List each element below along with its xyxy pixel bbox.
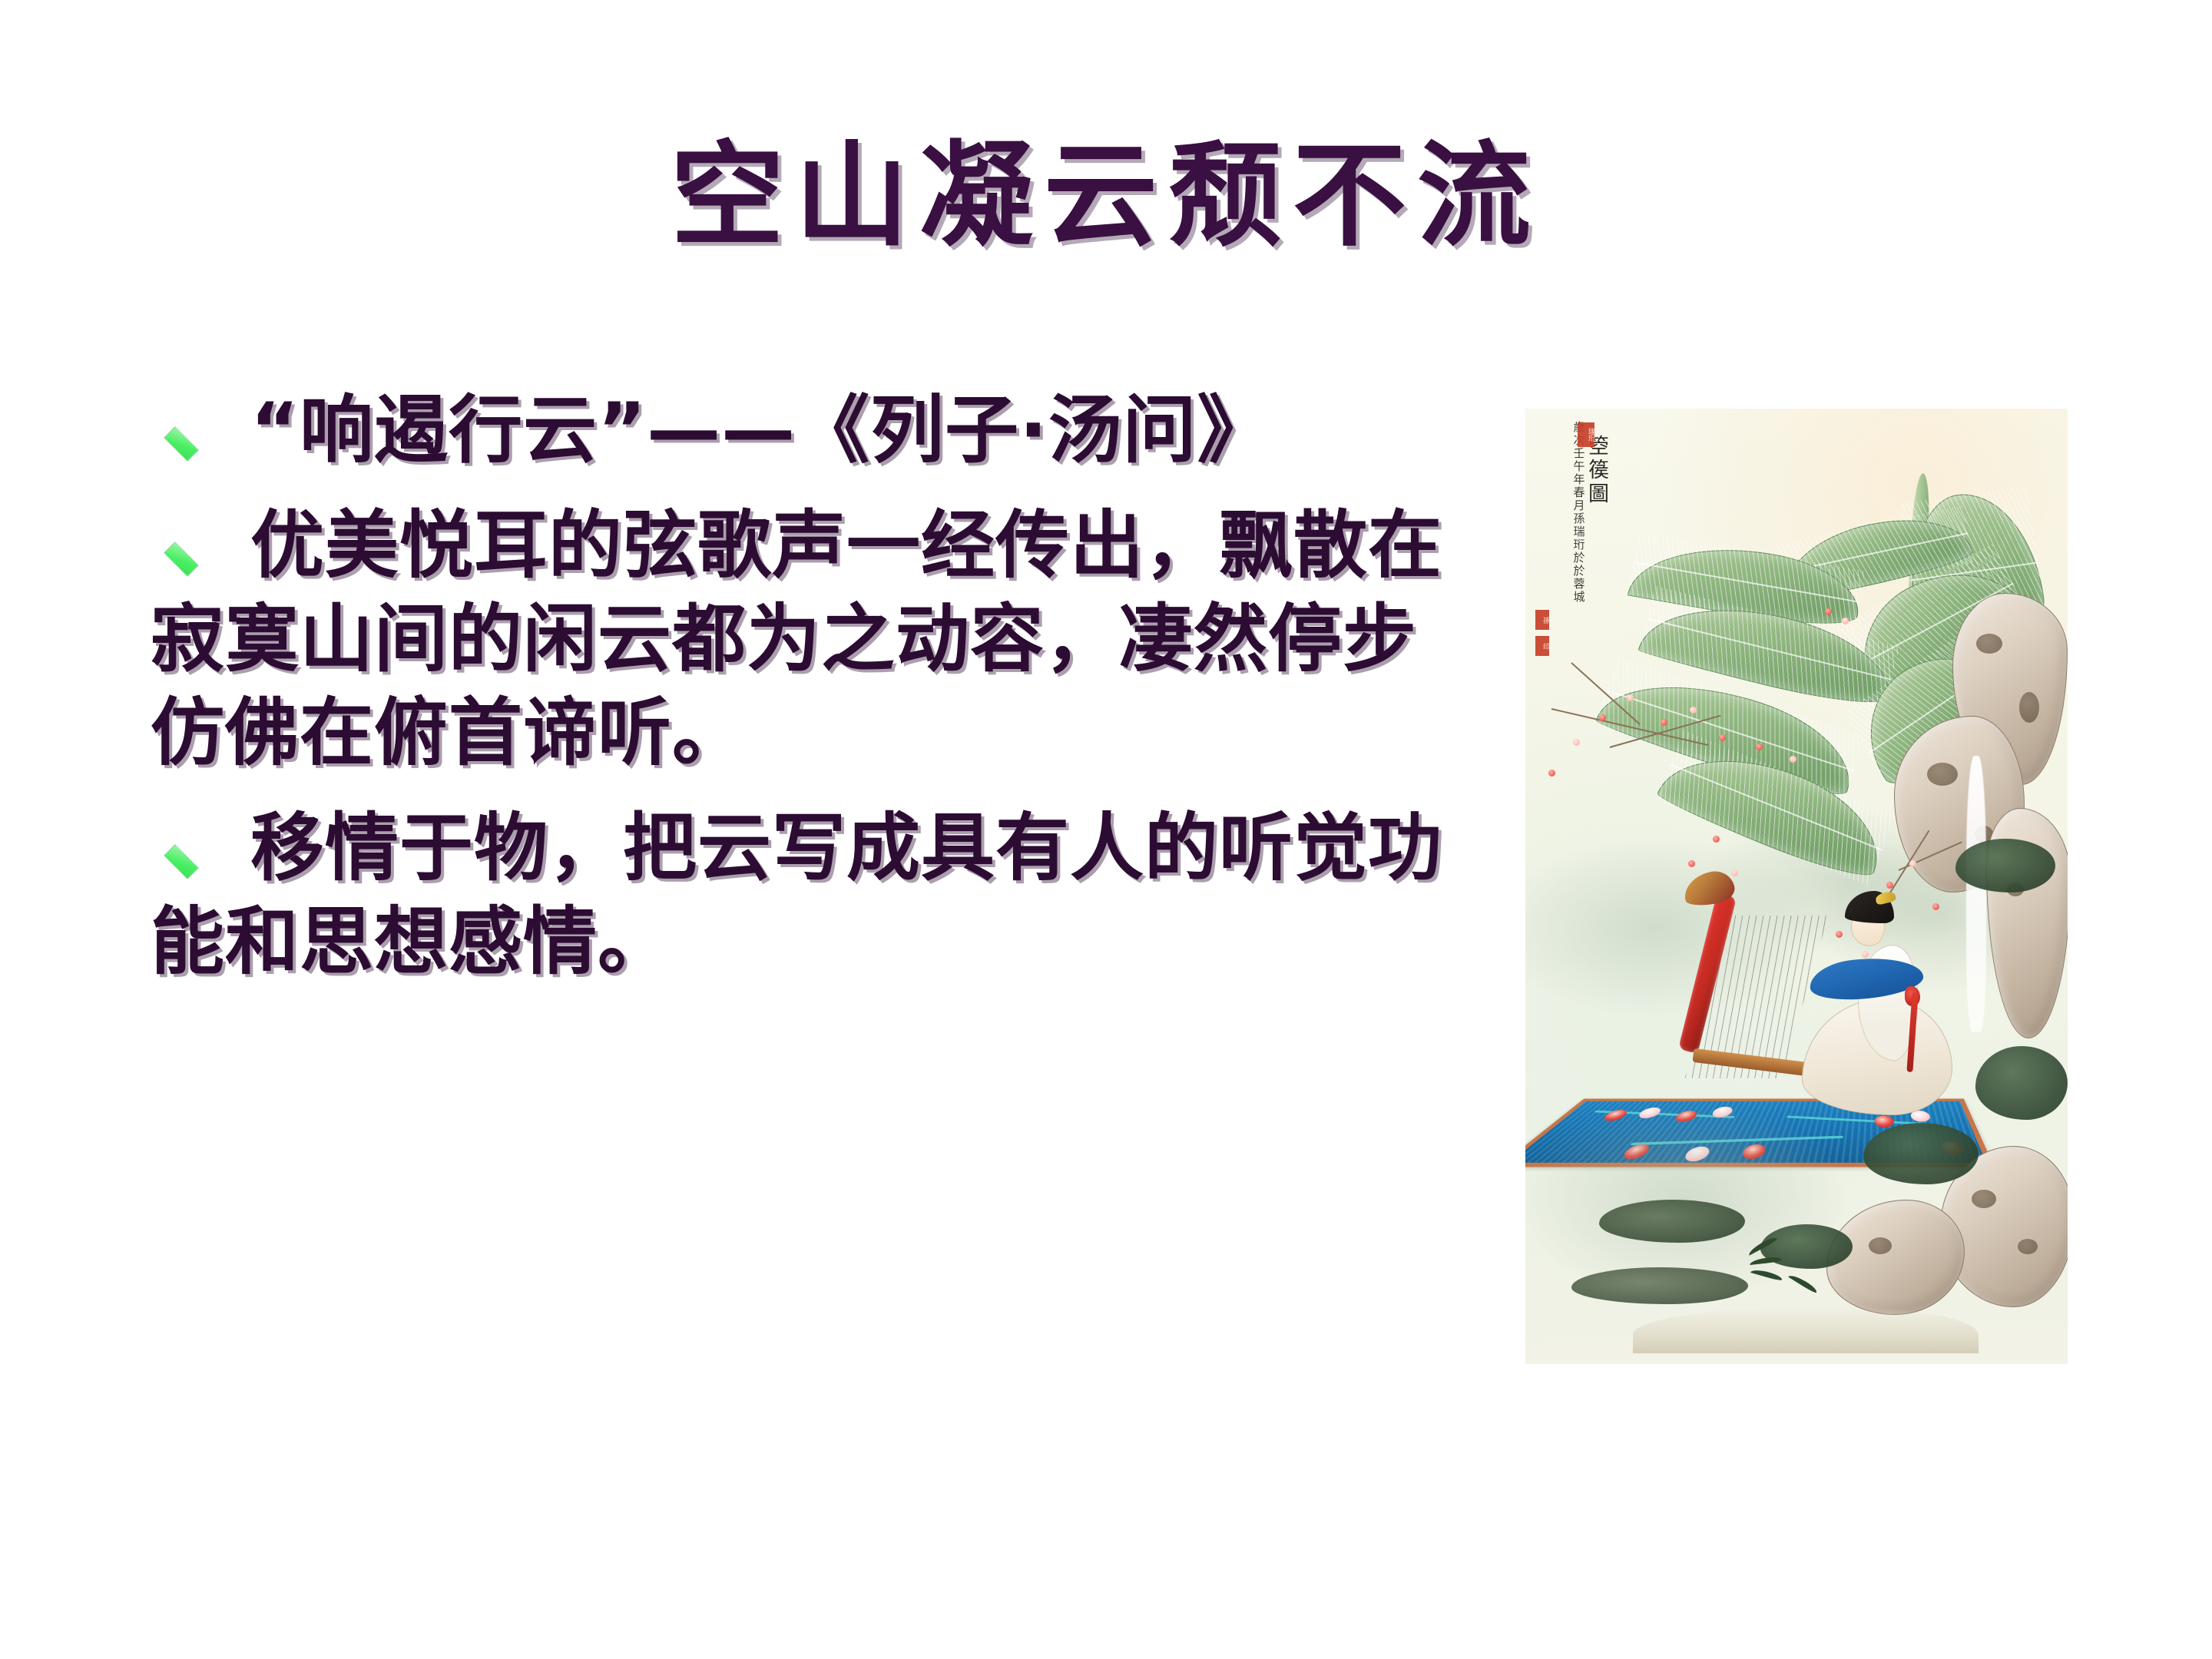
- inscription-signature: 歲次壬午年春月孫瑞珩於於蓉城: [1572, 421, 1584, 674]
- list-item: 优美悦耳的弦歌声一经传出，飘散在寂寞山间的闲云都为之动容，凄然停步仿佛在俯首谛听…: [151, 499, 1456, 780]
- seal-stamp: 印: [1535, 636, 1549, 656]
- list-item: “响遏行云”——《列子·汤问》: [151, 384, 1456, 478]
- plum-blossom: [1886, 882, 1893, 889]
- pine-foliage: [1975, 1046, 2068, 1120]
- green-diamond-icon: [161, 429, 210, 459]
- page-title: 空山凝云颓不流: [0, 137, 2212, 256]
- green-diamond-icon: [161, 846, 210, 877]
- list-item: 移情于物，把云写成具有人的听觉功能和思想感情。: [151, 802, 1456, 989]
- plum-blossom: [1627, 694, 1634, 701]
- plum-blossom: [1862, 951, 1869, 958]
- plum-blossom: [1548, 770, 1555, 777]
- waterfall: [1966, 756, 1986, 1032]
- seal-stamp: 孫: [1535, 610, 1549, 630]
- plum-blossom: [1836, 931, 1843, 938]
- inscription-title: 箜篌圖: [1585, 435, 1607, 674]
- body-text-column: “响遏行云”——《列子·汤问》 优美悦耳的弦歌声一经传出，飘散在寂寞山间的闲云都…: [151, 384, 1456, 988]
- pine-foliage: [1955, 839, 2055, 892]
- bullet-text: 移情于物，把云写成具有人的听觉功能和思想感情。: [151, 802, 1456, 989]
- plum-blossom: [1756, 743, 1763, 750]
- plum-blossom: [1690, 707, 1697, 714]
- slide-canvas: 空山凝云颓不流 “响遏行云”——《列子·汤问》 优美悦耳的弦歌声一经传出，飘散在…: [0, 0, 2212, 1659]
- plum-blossom: [1842, 618, 1849, 624]
- plum-blossom: [1932, 903, 1939, 910]
- pine-foliage: [1863, 1123, 1979, 1184]
- plum-blossom: [1573, 739, 1580, 746]
- plum-blossom: [1790, 756, 1796, 763]
- bullet-text: 优美悦耳的弦歌声一经传出，飘散在寂寞山间的闲云都为之动容，凄然停步仿佛在俯首谛听…: [151, 499, 1456, 780]
- plum-blossom: [1825, 608, 1832, 615]
- bullet-text: “响遏行云”——《列子·汤问》: [151, 384, 1456, 478]
- ink-wash-grass: [1599, 1200, 1745, 1243]
- green-diamond-icon: [161, 544, 210, 575]
- plum-blossom: [1661, 719, 1667, 726]
- plum-blossom: [1719, 734, 1726, 741]
- plum-blossom: [1713, 836, 1720, 843]
- traditional-chinese-painting: 箜篌圖 歲次壬午年春月孫瑞珩於於蓉城 瑞珩 孫 印: [1525, 409, 2068, 1364]
- plum-blossom: [1599, 714, 1606, 721]
- plum-blossom: [1909, 860, 1916, 867]
- ink-wash-grass: [1571, 1267, 1748, 1304]
- plum-blossom: [1688, 860, 1695, 867]
- plum-blossom: [1731, 869, 1738, 876]
- seal-stamp: 瑞珩: [1578, 422, 1594, 447]
